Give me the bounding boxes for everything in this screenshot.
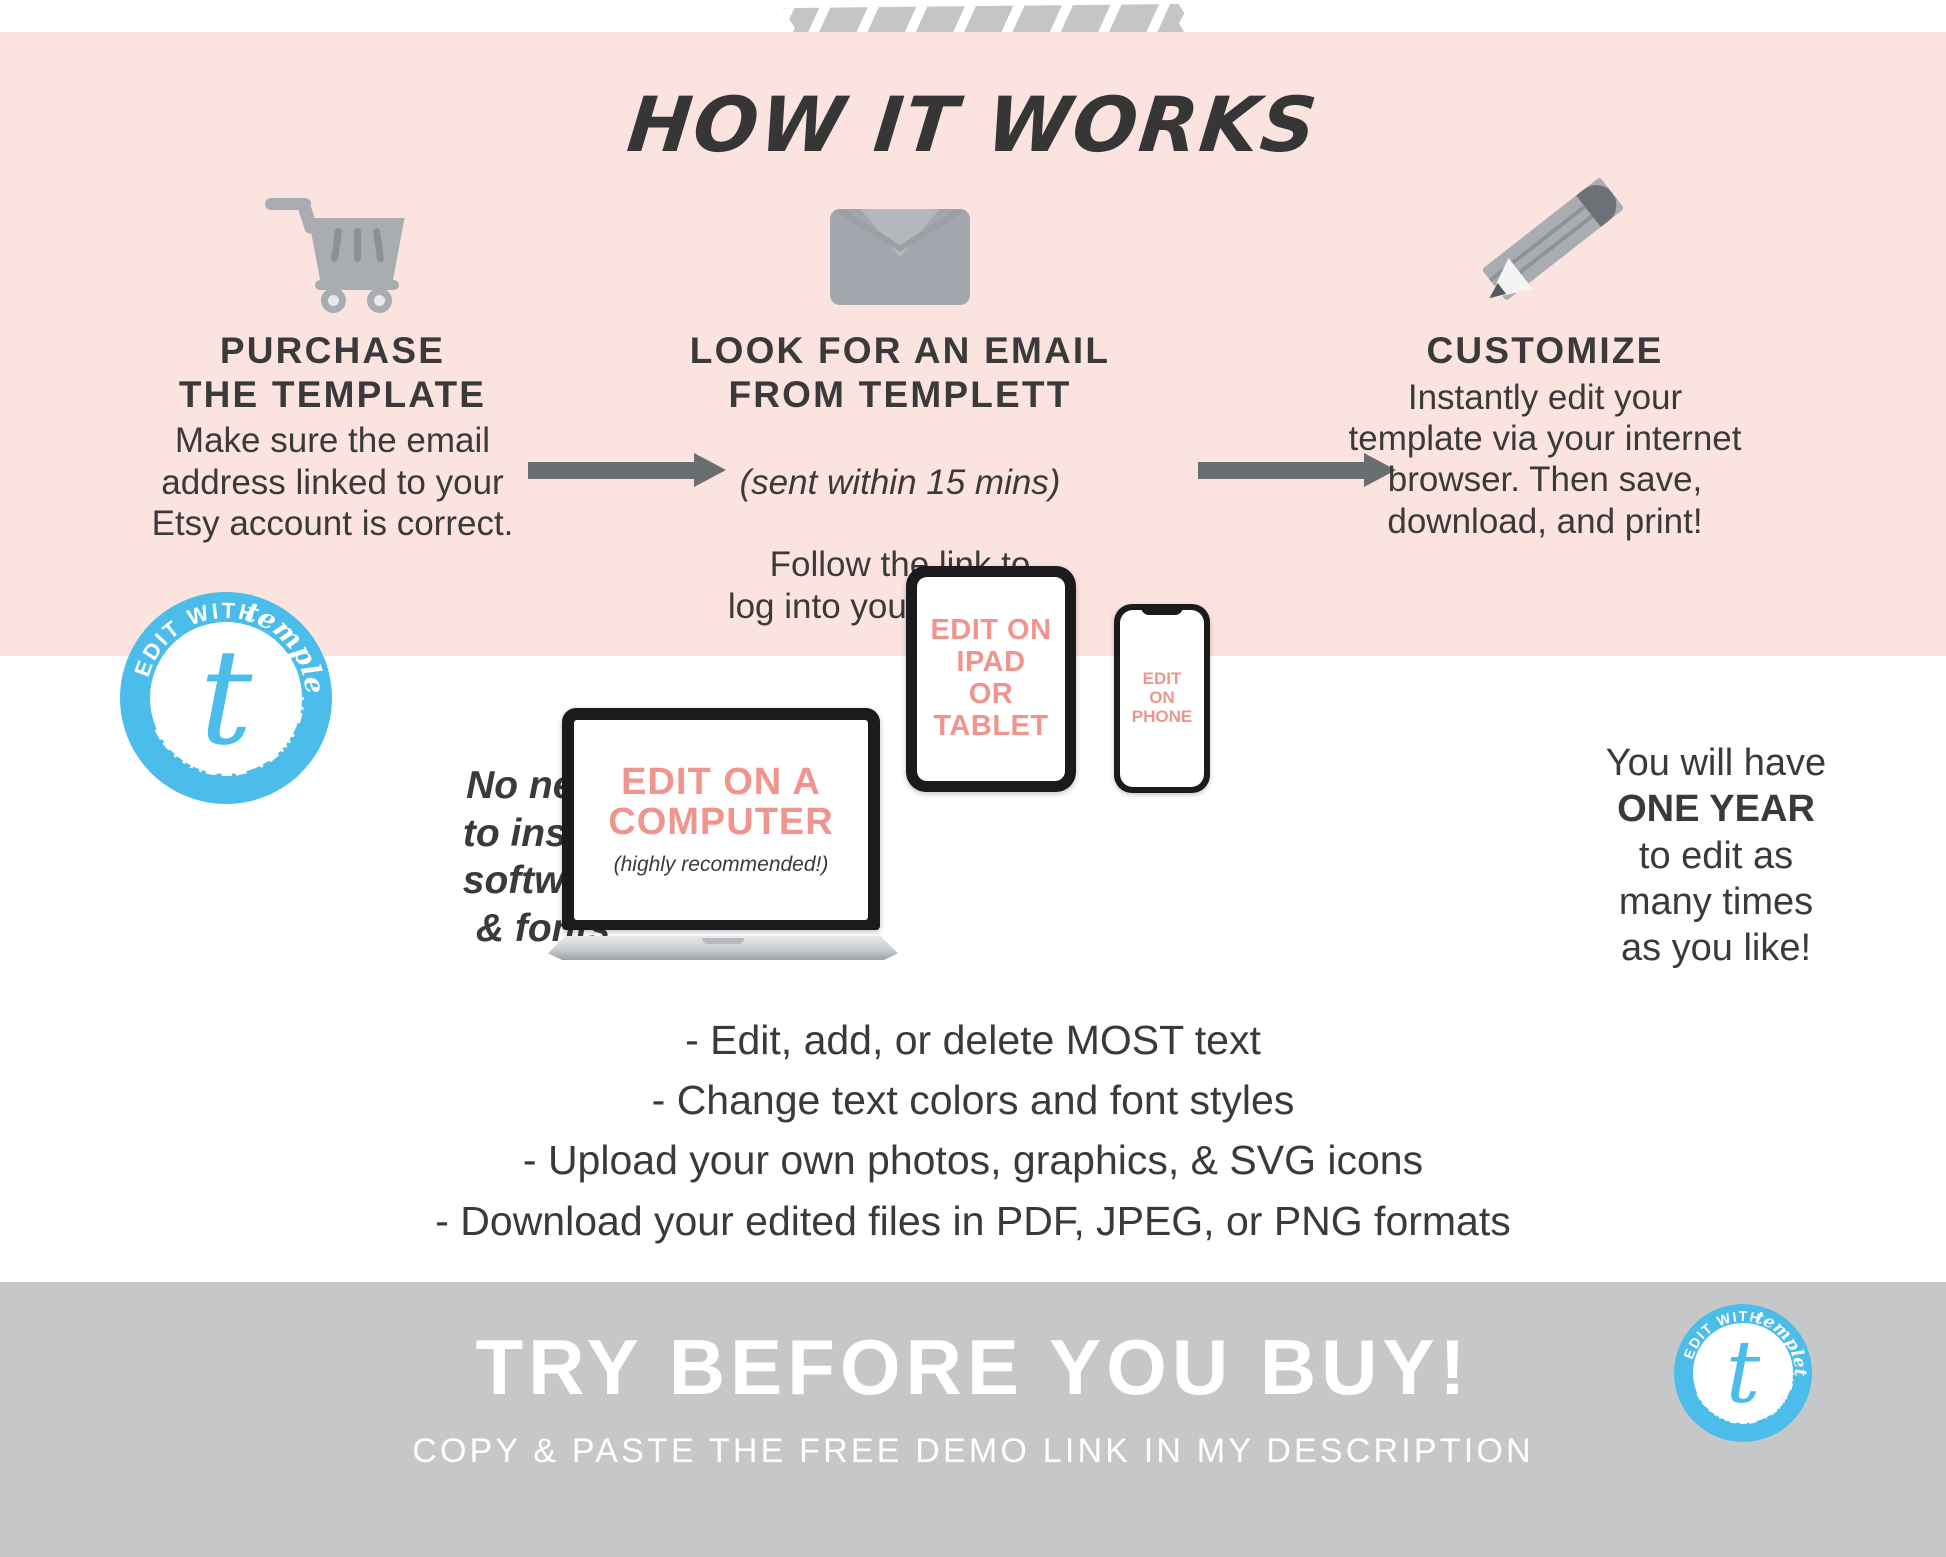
list-item: - Download your edited files in PDF, JPE…: [0, 1191, 1946, 1251]
footer-subtitle: COPY & PASTE THE FREE DEMO LINK IN MY DE…: [0, 1432, 1946, 1471]
pencil-icon: [1200, 185, 1890, 305]
phone-screen-text: EDIT ON PHONE: [1132, 670, 1192, 726]
phone-notch-icon: [1141, 604, 1183, 615]
infographic-canvas: HOW IT WORKS PURCHASE THE TEMPLATE Make …: [0, 0, 1946, 1557]
steps-row: PURCHASE THE TEMPLATE Make sure the emai…: [0, 185, 1946, 605]
step-customize: CUSTOMIZE Instantly edit your template v…: [1200, 185, 1890, 542]
one-year-text: You will have ONE YEAR to edit as many t…: [1516, 740, 1916, 972]
laptop-mockup: EDIT ON A COMPUTER (highly recommended!): [548, 708, 898, 960]
badge-t-letter: t: [1674, 1304, 1812, 1442]
laptop-screen-subtitle: (highly recommended!): [614, 853, 829, 877]
step-body-parenthetical: (sent within 15 mins): [620, 462, 1180, 503]
step-heading: PURCHASE THE TEMPLATE: [60, 329, 605, 416]
one-year-line-5: as you like!: [1516, 925, 1916, 971]
one-year-line-4: many times: [1516, 879, 1916, 925]
one-year-highlight: ONE YEAR: [1617, 788, 1815, 830]
phone-mockup: EDIT ON PHONE: [1114, 604, 1210, 793]
envelope-icon: [620, 185, 1180, 305]
footer-title: TRY BEFORE YOU BUY!: [0, 1322, 1946, 1413]
step-body-italic: (sent within 15 mins) Follow the link to…: [620, 420, 1180, 626]
one-year-line-3: to edit as: [1516, 833, 1916, 879]
step-look-for-email: LOOK FOR AN EMAIL FROM TEMPLETT (sent wi…: [620, 185, 1180, 627]
features-list: - Edit, add, or delete MOST text - Chang…: [0, 1010, 1946, 1251]
templett-badge-main: EDIT WITH templett EDITABLE TEMPLATE t: [120, 592, 332, 804]
list-item: - Edit, add, or delete MOST text: [0, 1010, 1946, 1070]
tablet-mockup: EDIT ON IPAD OR TABLET: [906, 566, 1076, 792]
list-item: - Change text colors and font styles: [0, 1070, 1946, 1130]
page-title: HOW IT WORKS: [0, 80, 1946, 169]
tablet-screen-text: EDIT ON IPAD OR TABLET: [930, 615, 1051, 743]
shopping-cart-icon: [60, 185, 605, 305]
laptop-screen-title: EDIT ON A COMPUTER: [608, 763, 833, 843]
step-body: Instantly edit your template via your in…: [1200, 377, 1890, 542]
step-heading: CUSTOMIZE: [1200, 329, 1890, 373]
step-body: Make sure the email address linked to yo…: [60, 420, 605, 544]
step-purchase: PURCHASE THE TEMPLATE Make sure the emai…: [60, 185, 605, 544]
step-heading: LOOK FOR AN EMAIL FROM TEMPLETT: [620, 329, 1180, 416]
templett-badge-footer: EDIT WITH templett EDITABLE TEMPLATE t: [1674, 1304, 1812, 1442]
badge-t-letter: t: [120, 592, 332, 804]
one-year-line-1: You will have: [1516, 740, 1916, 786]
list-item: - Upload your own photos, graphics, & SV…: [0, 1130, 1946, 1190]
